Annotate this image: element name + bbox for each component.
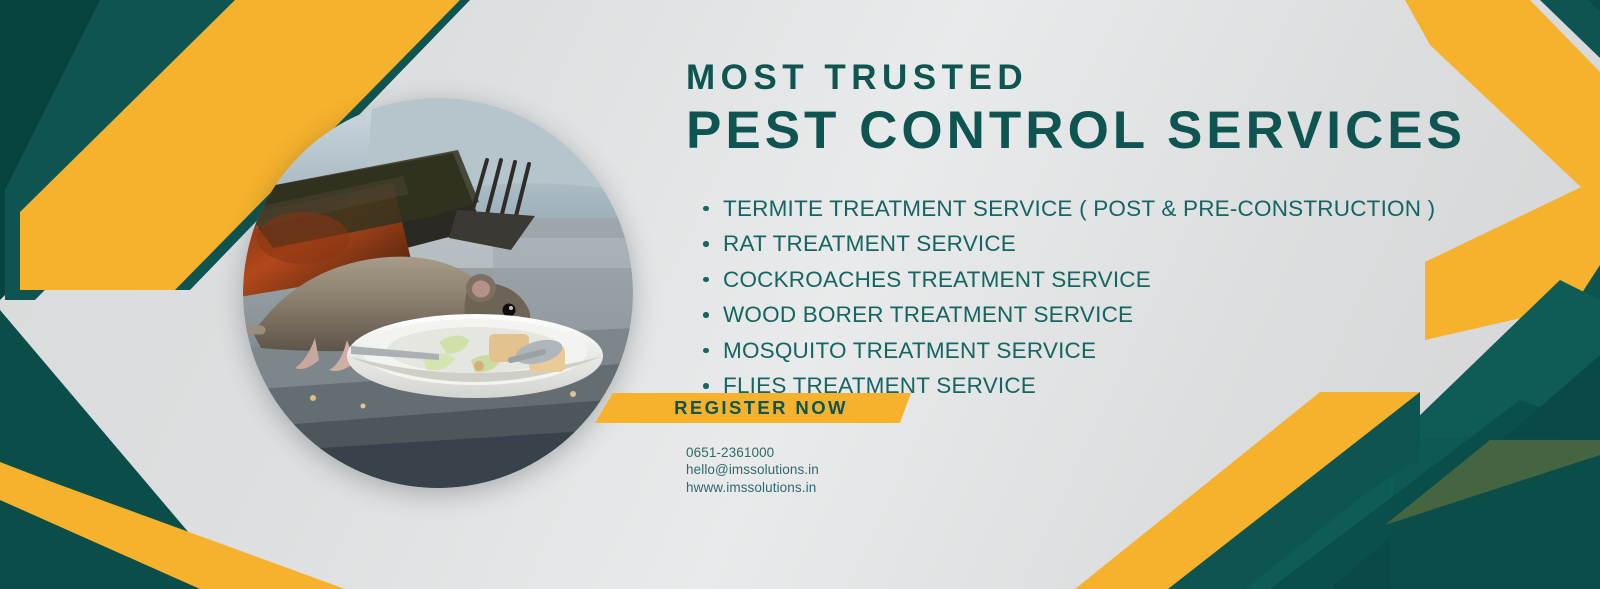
list-item: WOOD BORER TREATMENT SERVICE — [686, 297, 1486, 333]
pest-photo — [243, 98, 633, 488]
page-title: PEST CONTROL SERVICES — [686, 101, 1486, 160]
list-item: TERMITE TREATMENT SERVICE ( POST & PRE-C… — [686, 191, 1486, 227]
contact-info: 0651-2361000 hello@imssolutions.in hwww.… — [686, 444, 819, 496]
kicker-text: MOST TRUSTED — [686, 58, 1486, 97]
bottom-left-green-wedge — [0, 310, 195, 589]
bottom-right-yellow-stripe-front — [1080, 392, 1420, 589]
list-item: MOSQUITO TREATMENT SERVICE — [686, 333, 1486, 369]
register-now-label: REGISTER NOW — [658, 397, 848, 419]
bottom-right-green-panel — [1390, 440, 1600, 589]
bottom-left-green-triangle-large — [0, 400, 250, 589]
rat-photo-illustration — [243, 98, 633, 488]
top-right-green-accent-2 — [1588, 0, 1600, 12]
bottom-left-yellow-band — [0, 462, 330, 589]
list-item: COCKROACHES TREATMENT SERVICE — [686, 262, 1486, 298]
bottom-left-green-triangle — [0, 460, 200, 589]
bottom-right-dark-overlay — [1270, 400, 1600, 589]
top-right-green-accent — [1540, 0, 1600, 58]
register-now-button[interactable]: REGISTER NOW — [595, 393, 911, 423]
bottom-left-yellow-band-2 — [0, 463, 345, 589]
list-item: RAT TREATMENT SERVICE — [686, 226, 1486, 262]
contact-phone[interactable]: 0651-2361000 — [686, 444, 819, 461]
pest-control-banner: MOST TRUSTED PEST CONTROL SERVICES TERMI… — [0, 0, 1600, 589]
service-list: TERMITE TREATMENT SERVICE ( POST & PRE-C… — [686, 191, 1486, 404]
contact-email[interactable]: hello@imssolutions.in — [686, 461, 819, 478]
bottom-right-yellow-triangle — [1385, 440, 1600, 525]
contact-website[interactable]: hwww.imssolutions.in — [686, 479, 819, 496]
bottom-right-yellow-stripe — [1075, 392, 1418, 589]
bottom-right-green-square — [1390, 438, 1600, 589]
banner-content: MOST TRUSTED PEST CONTROL SERVICES TERMI… — [686, 58, 1486, 404]
bottom-right-yellow-inner — [1168, 392, 1420, 589]
bottom-right-green-band — [1120, 392, 1418, 589]
